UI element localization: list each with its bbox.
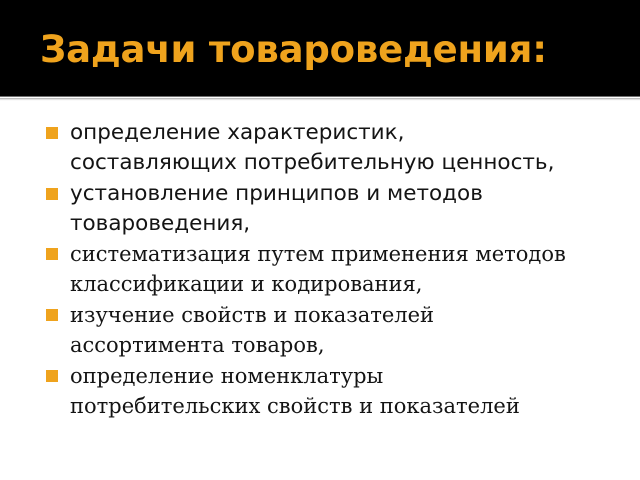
slide-header-band: Задачи товароведения:: [0, 0, 640, 96]
list-item-label: определение характеристик, составляющих …: [70, 118, 576, 177]
list-item: установление принципов и методов товаров…: [0, 179, 640, 238]
square-bullet-icon: [46, 370, 58, 382]
list-item: определение номенклатуры потребительских…: [0, 362, 640, 421]
square-bullet-icon: [46, 188, 58, 200]
square-bullet-icon: [46, 127, 58, 139]
list-item-label: изучение свойств и показателей ассортиме…: [70, 301, 576, 360]
list-item-label: систематизация путем применения методов …: [70, 240, 576, 299]
list-item: систематизация путем применения методов …: [0, 240, 640, 299]
square-bullet-icon: [46, 309, 58, 321]
slide-body: определение характеристик, составляющих …: [0, 101, 640, 480]
list-item-label: установление принципов и методов товаров…: [70, 179, 576, 238]
list-item: изучение свойств и показателей ассортиме…: [0, 301, 640, 360]
list-item-label: определение номенклатуры потребительских…: [70, 362, 576, 421]
page-title: Задачи товароведения:: [40, 28, 620, 72]
slide: Задачи товароведения: определение характ…: [0, 0, 640, 480]
list-item: определение характеристик, составляющих …: [0, 118, 640, 177]
square-bullet-icon: [46, 248, 58, 260]
bullet-list: определение характеристик, составляющих …: [0, 101, 640, 421]
